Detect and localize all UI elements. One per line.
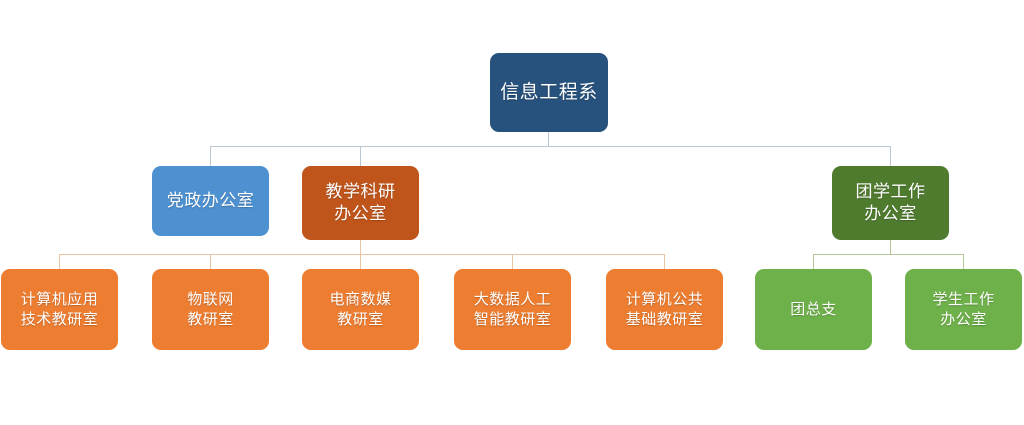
node-computer-public-basic[interactable]: 计算机公共 基础教研室 [606,269,723,350]
node-youth-league-branch[interactable]: 团总支 [755,269,872,350]
connector-to-admin-office [210,146,211,166]
node-student-work-office[interactable]: 学生工作 办公室 [905,269,1022,350]
node-youth-work-office[interactable]: 团学工作 办公室 [832,166,949,240]
node-iot[interactable]: 物联网 教研室 [152,269,269,350]
node-root-label: 信息工程系 [500,80,598,105]
connector-teaching-stem [360,240,361,255]
node-admin-office-label: 党政办公室 [167,190,255,212]
node-admin-office[interactable]: 党政办公室 [152,166,269,236]
connector-to-computer-public-basic [664,254,665,270]
node-computer-public-basic-label: 计算机公共 基础教研室 [626,290,704,330]
connector-teaching-bus [59,254,665,255]
node-bigdata-ai-label: 大数据人工 智能教研室 [474,290,552,330]
connector-youth-bus [813,254,964,255]
node-teaching-research-office[interactable]: 教学科研 办公室 [302,166,419,240]
node-teaching-research-office-label: 教学科研 办公室 [326,181,396,226]
connector-youth-stem [890,240,891,255]
node-youth-league-branch-label: 团总支 [790,300,837,320]
node-student-work-office-label: 学生工作 办公室 [932,290,994,330]
node-bigdata-ai[interactable]: 大数据人工 智能教研室 [454,269,571,350]
node-ecommerce-media[interactable]: 电商数媒 教研室 [302,269,419,350]
node-iot-label: 物联网 教研室 [187,290,234,330]
org-chart-canvas: 信息工程系 党政办公室 教学科研 办公室 团学工作 办公室 计算机应用 技术教研… [0,0,1024,425]
connector-root-stem [548,132,549,147]
connector-to-youth-league-branch [813,254,814,270]
connector-to-iot [210,254,211,270]
connector-to-ecommerce-media [360,254,361,270]
connector-level2-bus [210,146,891,147]
connector-to-bigdata-ai [512,254,513,270]
connector-to-teaching-research-office [360,146,361,166]
node-ecommerce-media-label: 电商数媒 教研室 [329,290,391,330]
node-root[interactable]: 信息工程系 [490,53,608,132]
connector-to-youth-work-office [890,146,891,166]
connector-to-computer-application [59,254,60,270]
connector-to-student-work-office [963,254,964,270]
node-youth-work-office-label: 团学工作 办公室 [856,181,926,226]
node-computer-application-label: 计算机应用 技术教研室 [21,290,99,330]
node-computer-application[interactable]: 计算机应用 技术教研室 [1,269,118,350]
